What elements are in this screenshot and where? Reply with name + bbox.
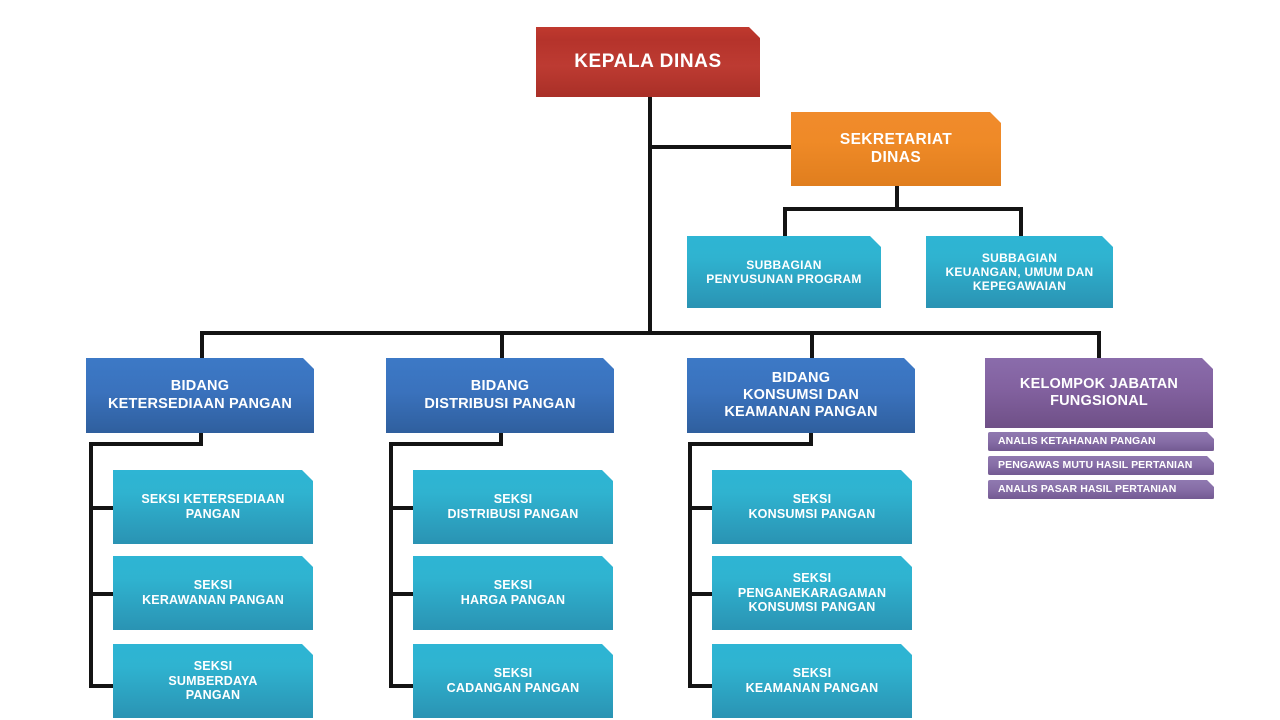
node-kelompok-jabatan-fungsional-label: KELOMPOK JABATAN FUNGSIONAL	[1012, 376, 1186, 410]
connector-col3-rail	[688, 442, 692, 688]
connector-root-trunk	[648, 97, 652, 334]
node-analis-pasar-hasil-pertanian-label: ANALIS PASAR HASIL PERTANIAN	[988, 483, 1184, 495]
node-seksi-ketersediaan-pangan[interactable]: SEKSI KETERSEDIAAN PANGAN	[113, 470, 313, 544]
node-seksi-kerawanan-pangan-label: SEKSI KERAWANAN PANGAN	[134, 578, 292, 608]
node-subbagian-penyusunan-program-label: SUBBAGIAN PENYUSUNAN PROGRAM	[698, 258, 869, 286]
node-kepala-dinas-label: KEPALA DINAS	[566, 51, 730, 73]
connector-col2-rail	[389, 442, 393, 688]
connector-kjf-drop	[1097, 331, 1101, 359]
node-kepala-dinas[interactable]: KEPALA DINAS	[536, 27, 760, 97]
node-seksi-konsumsi-pangan-label: SEKSI KONSUMSI PANGAN	[740, 492, 883, 522]
node-seksi-distribusi-pangan[interactable]: SEKSI DISTRIBUSI PANGAN	[413, 470, 613, 544]
connector-col2-elbow	[389, 442, 503, 446]
node-seksi-keamanan-pangan[interactable]: SEKSI KEAMANAN PANGAN	[712, 644, 912, 718]
node-bidang-konsumsi-keamanan-pangan[interactable]: BIDANG KONSUMSI DAN KEAMANAN PANGAN	[687, 358, 915, 433]
node-seksi-sumberdaya-pangan[interactable]: SEKSI SUMBERDAYA PANGAN	[113, 644, 313, 718]
connector-root-to-sekretariat	[648, 145, 794, 149]
node-seksi-harga-pangan-label: SEKSI HARGA PANGAN	[453, 578, 573, 608]
connector-col3-elbow	[688, 442, 813, 446]
node-seksi-ketersediaan-pangan-label: SEKSI KETERSEDIAAN PANGAN	[133, 492, 292, 522]
node-analis-pasar-hasil-pertanian[interactable]: ANALIS PASAR HASIL PERTANIAN	[988, 480, 1214, 499]
node-seksi-distribusi-pangan-label: SEKSI DISTRIBUSI PANGAN	[440, 492, 587, 522]
node-seksi-sumberdaya-pangan-label: SEKSI SUMBERDAYA PANGAN	[160, 659, 265, 703]
node-subbagian-keuangan-umum-kepegawaian-label: SUBBAGIAN KEUANGAN, UMUM DAN KEPEGAWAIAN	[937, 251, 1101, 293]
node-seksi-penganekaragaman-konsumsi-pangan[interactable]: SEKSI PENGANEKARAGAMAN KONSUMSI PANGAN	[712, 556, 912, 630]
connector-col1-rail	[89, 442, 93, 688]
node-seksi-kerawanan-pangan[interactable]: SEKSI KERAWANAN PANGAN	[113, 556, 313, 630]
node-kelompok-jabatan-fungsional[interactable]: KELOMPOK JABATAN FUNGSIONAL	[985, 358, 1213, 428]
connector-subbagian-2-drop	[1019, 207, 1023, 236]
node-pengawas-mutu-hasil-pertanian[interactable]: PENGAWAS MUTU HASIL PERTANIAN	[988, 456, 1214, 475]
connector-main-bus	[200, 331, 1101, 335]
node-subbagian-penyusunan-program[interactable]: SUBBAGIAN PENYUSUNAN PROGRAM	[687, 236, 881, 308]
node-bidang-distribusi-pangan-label: BIDANG DISTRIBUSI PANGAN	[416, 378, 583, 412]
connector-subbagian-1-drop	[783, 207, 787, 236]
node-analis-ketahanan-pangan[interactable]: ANALIS KETAHANAN PANGAN	[988, 432, 1214, 451]
connector-bidang-3-drop	[810, 331, 814, 359]
node-sekretariat-dinas-label: SEKRETARIAT DINAS	[832, 131, 960, 168]
node-subbagian-keuangan-umum-kepegawaian[interactable]: SUBBAGIAN KEUANGAN, UMUM DAN KEPEGAWAIAN	[926, 236, 1113, 308]
connector-bidang-2-drop	[500, 331, 504, 359]
connector-sekretariat-bus	[783, 207, 1023, 211]
node-seksi-penganekaragaman-konsumsi-pangan-label: SEKSI PENGANEKARAGAMAN KONSUMSI PANGAN	[730, 571, 894, 615]
node-seksi-cadangan-pangan[interactable]: SEKSI CADANGAN PANGAN	[413, 644, 613, 718]
node-seksi-harga-pangan[interactable]: SEKSI HARGA PANGAN	[413, 556, 613, 630]
node-bidang-ketersediaan-pangan-label: BIDANG KETERSEDIAAN PANGAN	[100, 378, 300, 412]
node-seksi-cadangan-pangan-label: SEKSI CADANGAN PANGAN	[439, 666, 588, 696]
org-chart-canvas: KEPALA DINAS SEKRETARIAT DINAS SUBBAGIAN…	[0, 0, 1280, 720]
node-bidang-konsumsi-keamanan-pangan-label: BIDANG KONSUMSI DAN KEAMANAN PANGAN	[716, 370, 885, 421]
connector-bidang-1-drop	[200, 331, 204, 359]
node-pengawas-mutu-hasil-pertanian-label: PENGAWAS MUTU HASIL PERTANIAN	[988, 459, 1200, 471]
node-bidang-distribusi-pangan[interactable]: BIDANG DISTRIBUSI PANGAN	[386, 358, 614, 433]
node-bidang-ketersediaan-pangan[interactable]: BIDANG KETERSEDIAAN PANGAN	[86, 358, 314, 433]
node-sekretariat-dinas[interactable]: SEKRETARIAT DINAS	[791, 112, 1001, 186]
node-seksi-keamanan-pangan-label: SEKSI KEAMANAN PANGAN	[738, 666, 887, 696]
connector-col1-elbow	[89, 442, 203, 446]
node-analis-ketahanan-pangan-label: ANALIS KETAHANAN PANGAN	[988, 435, 1164, 447]
node-seksi-konsumsi-pangan[interactable]: SEKSI KONSUMSI PANGAN	[712, 470, 912, 544]
